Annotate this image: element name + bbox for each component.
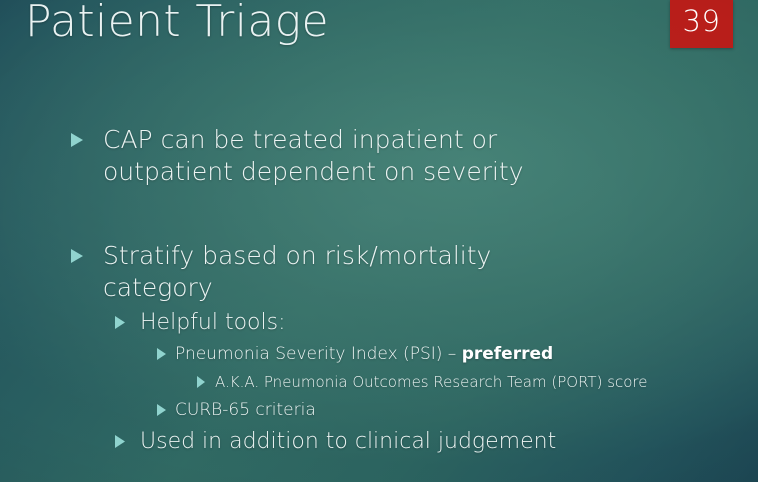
slide-canvas: Patient Triage 39 CAP can be treated inp… xyxy=(0,0,758,482)
triangle-right-icon xyxy=(156,341,167,367)
list-item: A.K.A. Pneumonia Outcomes Research Team … xyxy=(0,370,758,394)
triangle-right-icon xyxy=(70,124,84,156)
list-item: Pneumonia Severity Index (PSI) – preferr… xyxy=(0,341,758,367)
bullet-list: CAP can be treated inpatient or outpatie… xyxy=(0,124,758,457)
page-title: Patient Triage xyxy=(25,0,329,47)
list-item-label: CURB-65 criteria xyxy=(175,397,758,423)
list-item-text: Pneumonia Severity Index (PSI) – xyxy=(175,344,462,364)
triangle-right-icon xyxy=(70,240,84,272)
triangle-right-icon xyxy=(114,427,126,457)
list-item-label: Helpful tools: xyxy=(140,308,758,338)
slide-number-value: 39 xyxy=(670,4,733,38)
list-item-label: CAP can be treated inpatient or outpatie… xyxy=(103,124,603,188)
list-item-label: Pneumonia Severity Index (PSI) – preferr… xyxy=(175,341,758,367)
list-item: CAP can be treated inpatient or outpatie… xyxy=(0,124,758,188)
slide-number-badge: 39 xyxy=(670,0,733,48)
triangle-right-icon xyxy=(156,397,167,423)
list-item: Helpful tools: xyxy=(0,308,758,338)
list-item-label: Stratify based on risk/mortality categor… xyxy=(103,240,603,304)
triangle-right-icon xyxy=(114,308,126,338)
list-item-label: Used in addition to clinical judgement xyxy=(140,427,758,457)
spacer xyxy=(0,188,758,240)
list-item-label: A.K.A. Pneumonia Outcomes Research Team … xyxy=(215,370,758,394)
list-item: CURB-65 criteria xyxy=(0,397,758,423)
list-item-emphasis: preferred xyxy=(462,344,553,364)
triangle-right-icon xyxy=(196,370,206,394)
list-item: Stratify based on risk/mortality categor… xyxy=(0,240,758,304)
list-item: Used in addition to clinical judgement xyxy=(0,427,758,457)
